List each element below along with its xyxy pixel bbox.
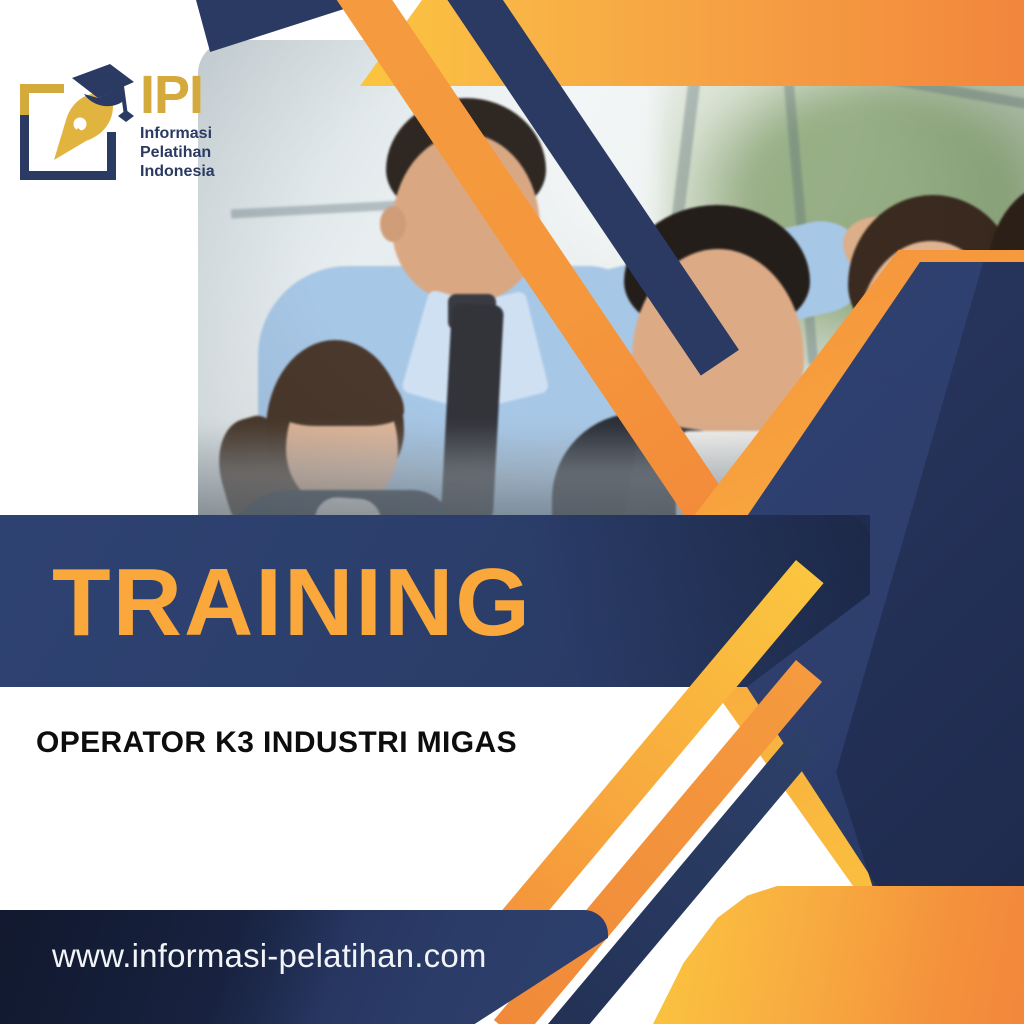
website-url: www.informasi-pelatihan.com [52, 926, 572, 986]
training-poster: TRAINING OPERATOR K3 INDUSTRI MIGAS www.… [0, 0, 1024, 1024]
logo-tagline-line3: Indonesia [140, 162, 232, 181]
ipi-logo: IPI Informasi Pelatihan Indonesia [14, 62, 224, 202]
logo-tagline-line2: Pelatihan [140, 143, 232, 162]
logo-tagline-line1: Informasi [140, 124, 232, 143]
decor-orange-block-bottom-right [650, 870, 1024, 1024]
page-title: TRAINING [52, 543, 752, 663]
logo-tagline: Informasi Pelatihan Indonesia [140, 124, 232, 181]
graduation-cap-pen-nib-icon [14, 62, 134, 182]
logo-acronym: IPI [140, 68, 230, 122]
